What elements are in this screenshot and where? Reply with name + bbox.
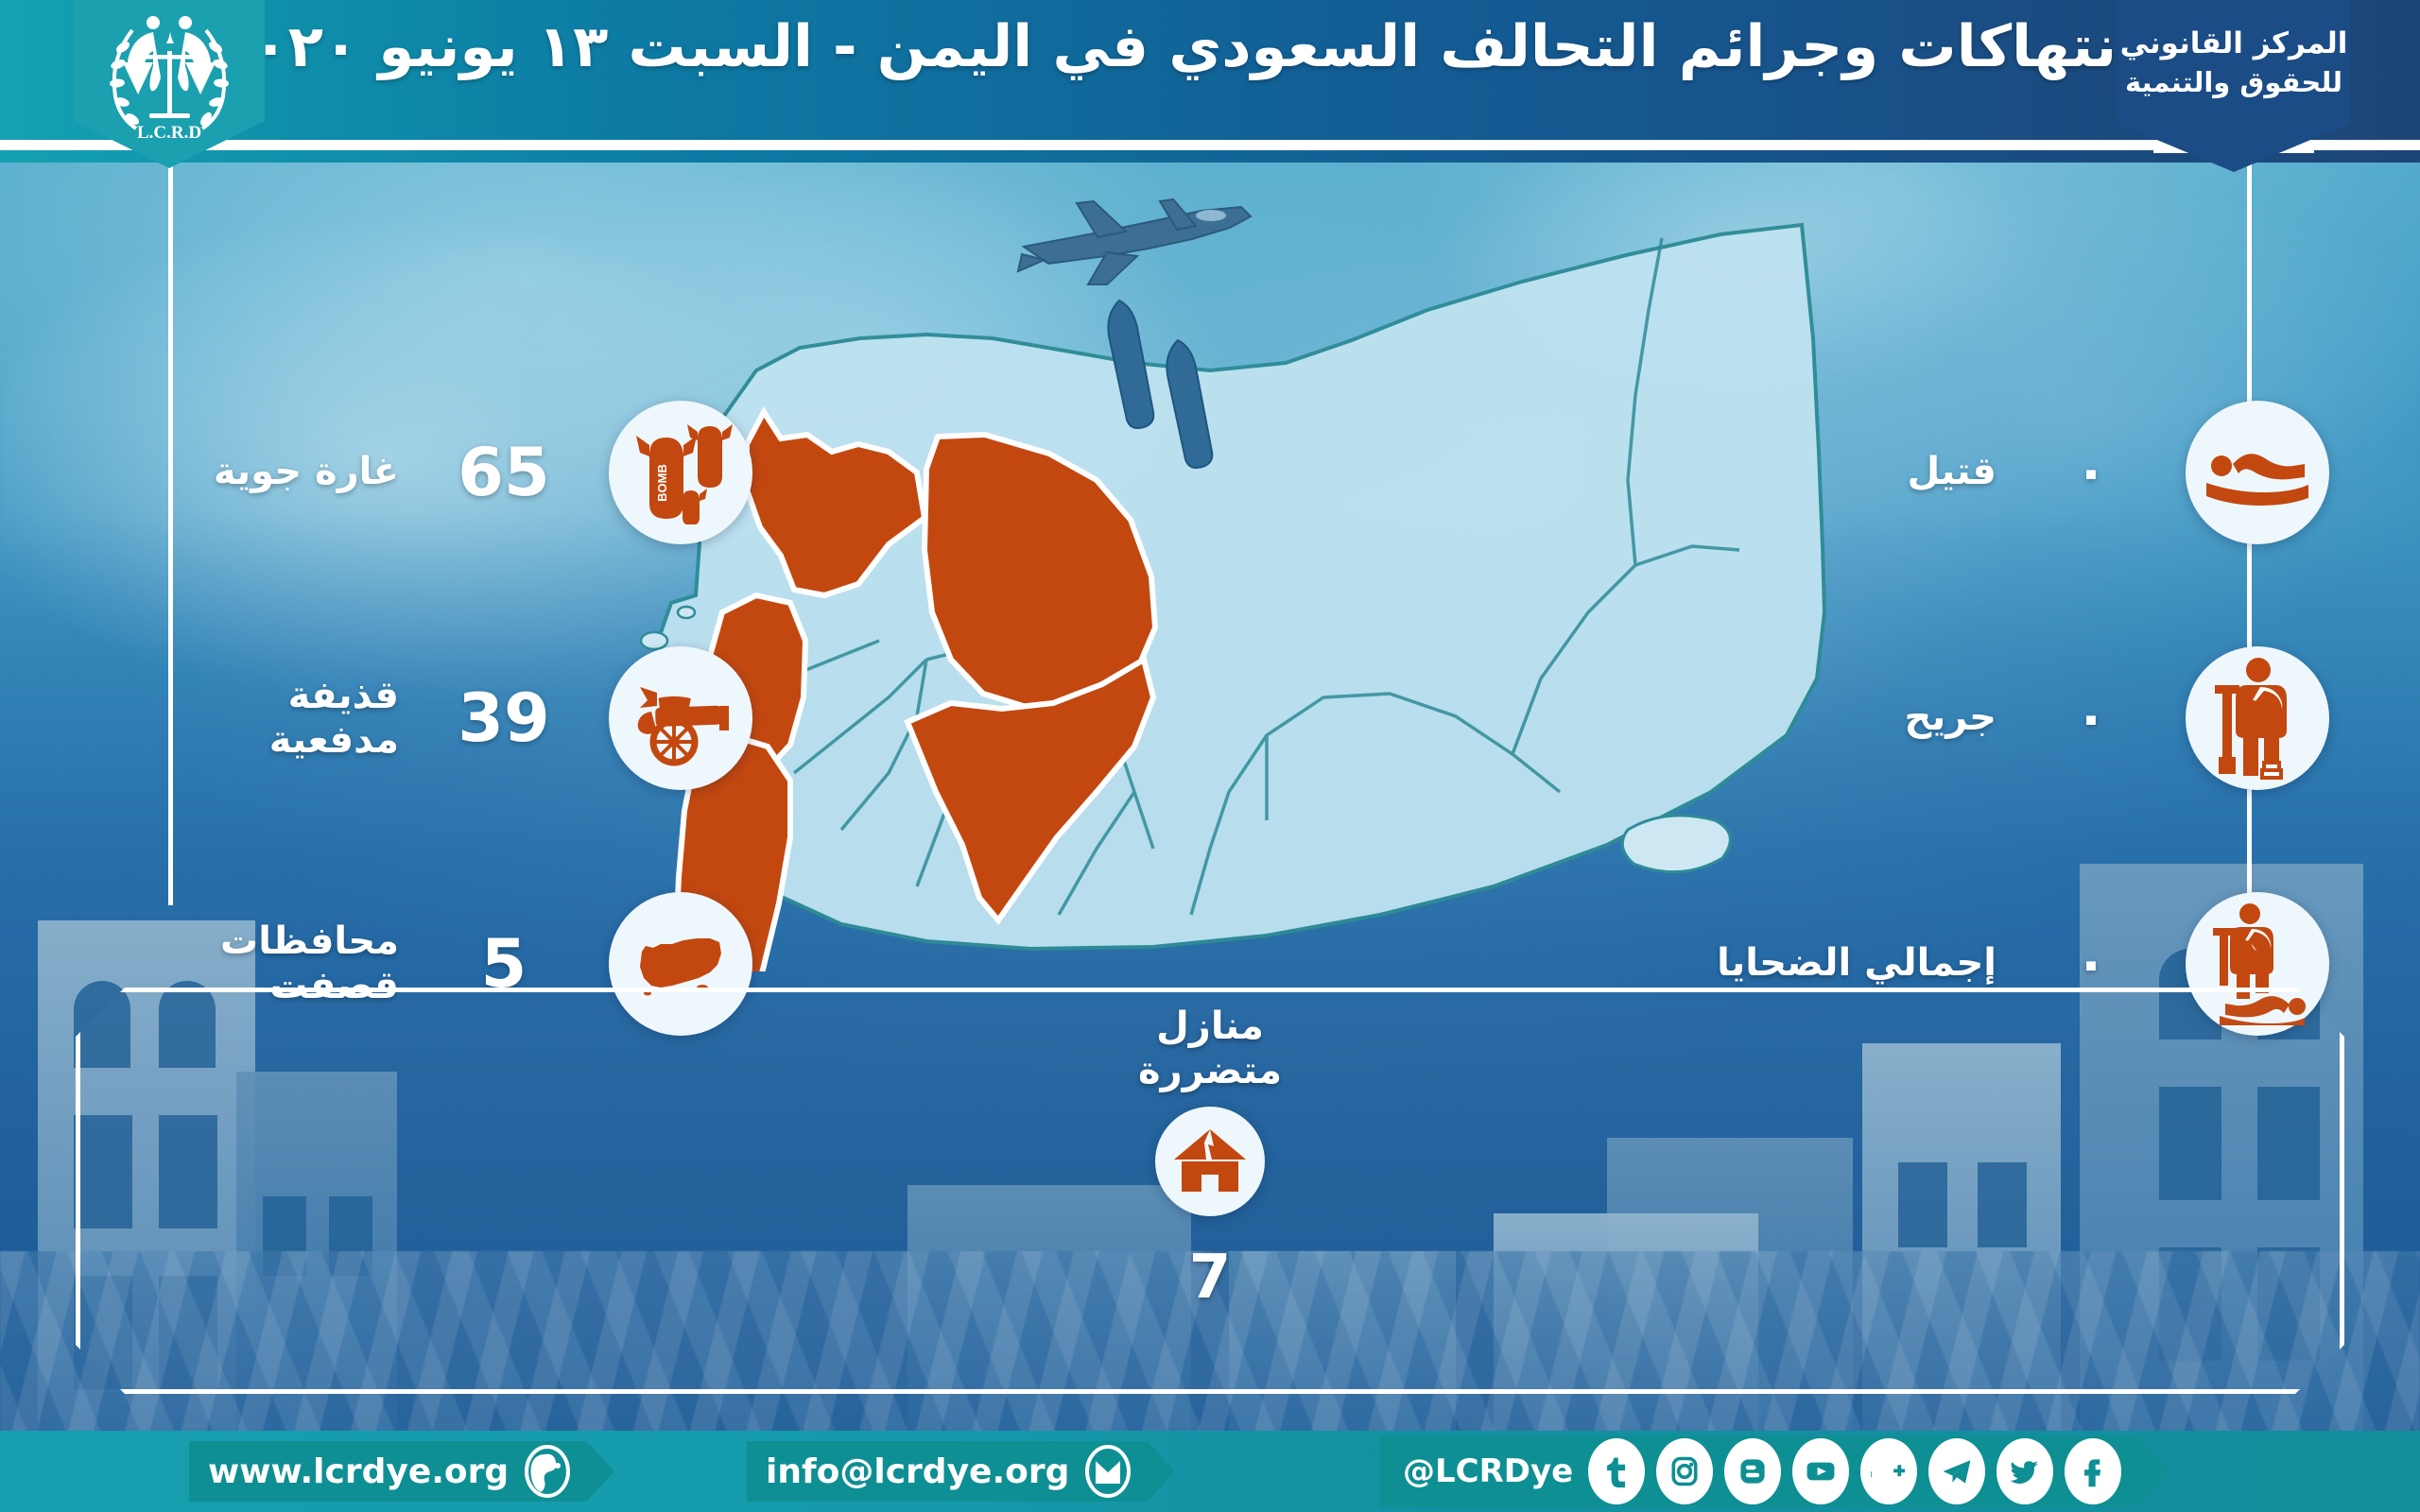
blogger-icon[interactable]: [1724, 1438, 1781, 1504]
stat-total-victims-label: إجمالي الضحايا: [1649, 941, 1996, 986]
stat-airstrikes: BOMB 65 غارة جوية: [91, 387, 752, 558]
stat-injured-value: ٠: [2034, 692, 2148, 745]
stat-injured-label: جريح: [1649, 696, 1996, 740]
instagram-icon[interactable]: [1656, 1438, 1713, 1504]
stat-airstrikes-label: غارة جوية: [214, 450, 399, 494]
stat-killed: ٠ قتيل: [1649, 387, 2329, 558]
stat-killed-value: ٠: [2034, 446, 2148, 499]
email-address: info@lcrdye.org: [766, 1452, 1069, 1491]
stat-artillery-value: 39: [433, 685, 575, 751]
tumblr-icon[interactable]: [1588, 1438, 1645, 1504]
logo-acronym: L.C.R.D: [137, 123, 201, 143]
org-name-line2: للحقوق والتنمية: [2117, 66, 2350, 98]
scales-of-justice-icon: L.C.R.D: [91, 2, 248, 144]
footer-bar: www.lcrdye.org info@lcrdye.org: [0, 1431, 2420, 1512]
facebook-icon[interactable]: [2065, 1438, 2121, 1504]
email-chip[interactable]: info@lcrdye.org: [747, 1441, 1175, 1502]
header-accent-rule: [0, 150, 2420, 163]
damaged-house-icon: [1155, 1107, 1265, 1216]
damaged-houses-content: منازل متضررة 7: [0, 988, 2420, 1394]
svg-text:G: G: [1871, 1461, 1873, 1485]
social-handle: @LCRDye: [1403, 1452, 1573, 1490]
page-title: انتهاكات وجرائم التحالف السعودي في اليمن…: [312, 13, 2136, 81]
stat-artillery: 39 قذيفة مدفعية: [91, 633, 752, 803]
stat-governorates-label-line1: محافظات: [220, 919, 399, 964]
telegram-icon[interactable]: [1928, 1438, 1985, 1504]
svg-text:BOMB: BOMB: [655, 464, 669, 502]
stat-killed-label: قتيل: [1649, 450, 1996, 494]
globe-icon: [524, 1445, 571, 1498]
fighter-jet-icon: [1007, 184, 1262, 298]
social-links: G @LCRDye: [1380, 1436, 2169, 1506]
infographic-poster: انتهاكات وجرائم التحالف السعودي في اليمن…: [0, 0, 2420, 1512]
stat-injured: ٠ جريح: [1649, 633, 2329, 803]
bombs-icon: BOMB: [609, 401, 752, 544]
youtube-icon[interactable]: [1792, 1438, 1849, 1504]
googleplus-icon[interactable]: G: [1860, 1438, 1917, 1504]
twitter-icon[interactable]: [1996, 1438, 2053, 1504]
org-name-line1: المركز القانوني: [2117, 26, 2350, 60]
stat-artillery-label-line1: قذيفة: [269, 674, 399, 718]
panel-value: 7: [1189, 1243, 1232, 1313]
stat-total-victims-value: ٠: [2034, 937, 2148, 990]
header-white-rule: [0, 140, 2420, 150]
panel-label-line1: منازل: [1156, 1005, 1264, 1049]
envelope-icon: [1084, 1445, 1132, 1498]
injured-person-icon: [2186, 646, 2329, 790]
stat-artillery-label-line2: مدفعية: [269, 718, 399, 763]
stat-artillery-label: قذيفة مدفعية: [269, 674, 399, 763]
website-url: www.lcrdye.org: [208, 1452, 509, 1491]
stat-airstrikes-value: 65: [433, 439, 575, 506]
casualty-body-icon: [2186, 401, 2329, 544]
falling-bombs-icon: [1087, 293, 1267, 482]
website-chip[interactable]: www.lcrdye.org: [189, 1441, 614, 1502]
panel-label-line2: متضررة: [1138, 1049, 1282, 1093]
artillery-cannon-icon: [609, 646, 752, 790]
